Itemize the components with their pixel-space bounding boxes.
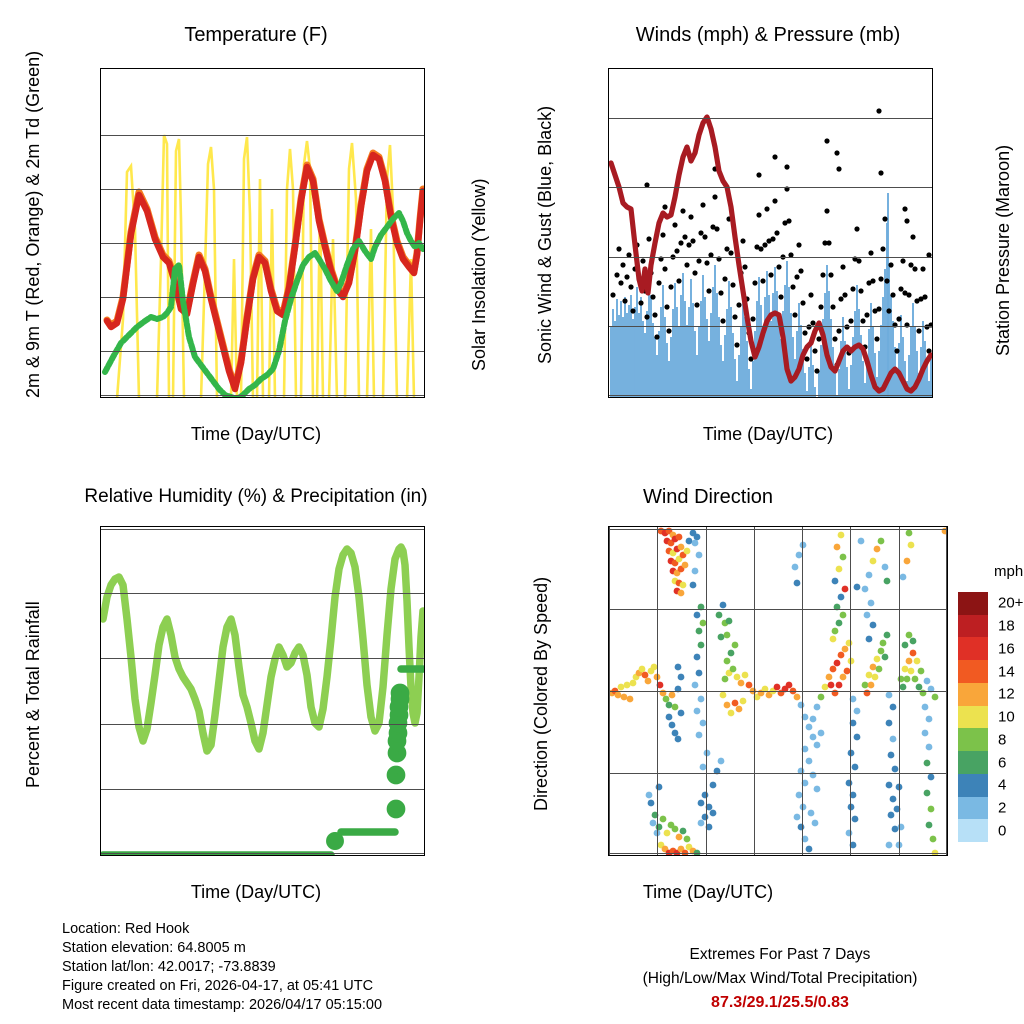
temperature-ylabel-left: 2m & 9m T (Red, Orange) & 2m Td (Green) xyxy=(22,68,44,398)
colorbar-label-16: 16 xyxy=(998,640,1015,657)
vline-1605 xyxy=(899,527,900,855)
gridline-10 xyxy=(609,326,932,327)
relative-humidity-trace xyxy=(103,547,423,751)
colorbar-band-14 xyxy=(958,660,988,683)
ytick-minor xyxy=(608,292,609,293)
ytick-minor xyxy=(100,162,101,163)
ytick-minor xyxy=(608,222,609,223)
ytick-minor xyxy=(100,691,101,692)
ytick-north-top xyxy=(608,529,609,530)
ytick-minor xyxy=(608,83,609,84)
winddir-xlabel: Time (Day/UTC) xyxy=(452,882,964,903)
extremes-subtitle: (High/Low/Max Wind/Total Precipitation) xyxy=(560,967,1000,991)
ytick-40 xyxy=(608,118,609,119)
gridline-north-bottom xyxy=(609,853,947,854)
colorbar-label-8: 8 xyxy=(998,731,1006,748)
ytick-50 xyxy=(100,297,101,298)
colorbar-band-12 xyxy=(958,683,988,706)
ytick-40 xyxy=(100,724,101,725)
extremes-values: 87.3/29.1/25.5/0.83 xyxy=(560,991,1000,1015)
ytick-minor xyxy=(608,152,609,153)
winds-xlabel: Time (Day/UTC) xyxy=(512,424,1024,445)
gridline-30 xyxy=(609,187,932,188)
dashboard-figure: Temperature (F) 2m & 9m T (Red, Orange) … xyxy=(0,0,1024,1024)
ytick-minor xyxy=(100,270,101,271)
metadata-location: Location: Red Hook xyxy=(62,920,382,939)
gridline-40 xyxy=(101,724,424,725)
winds-panel-title: Winds (mph) & Pressure (mb) xyxy=(512,24,1024,47)
humidity-series-svg xyxy=(101,527,425,856)
temperature-plot-area: 80 70 60 50 40 30 800 600 400 200 0 xyxy=(100,68,425,398)
station-metadata: Location: Red Hook Station elevation: 64… xyxy=(62,920,382,1015)
ytick-south xyxy=(608,691,609,692)
temperature-ylabel-right: Solar Insolation (Yellow) xyxy=(468,150,490,400)
winddir-ylabel-left: Direction (Colored By Speed) xyxy=(530,556,552,832)
gridline-60 xyxy=(101,243,424,244)
colorbar-band-16 xyxy=(958,637,988,660)
ytick-minor xyxy=(608,361,609,362)
temperature-xlabel: Time (Day/UTC) xyxy=(0,424,512,445)
vline-1105 xyxy=(657,527,658,855)
temperature-panel-title: Temperature (F) xyxy=(0,24,512,47)
winds-ylabel-right: Station Pressure (Maroon) xyxy=(992,110,1014,390)
ytick-minor xyxy=(100,216,101,217)
vline-1705 xyxy=(946,527,947,855)
humidity-ylabel-left: Percent & Total Rainfall xyxy=(22,570,44,820)
colorbar-band-18 xyxy=(958,615,988,638)
gridline-40 xyxy=(609,118,932,119)
vline-1505 xyxy=(850,527,851,855)
colorbar-band-8 xyxy=(958,728,988,751)
colorbar-label-0: 0 xyxy=(998,822,1006,839)
ytick-40 xyxy=(100,351,101,352)
ytick-30 xyxy=(608,187,609,188)
colorbar-label-10: 10 xyxy=(998,709,1015,726)
ytick-20 xyxy=(100,789,101,790)
colorbar-label-2: 2 xyxy=(998,800,1006,817)
extremes-title: Extremes For Past 7 Days xyxy=(560,943,1000,967)
ytick-minor xyxy=(100,560,101,561)
ytick-minor xyxy=(100,108,101,109)
vline-1005 xyxy=(609,527,610,855)
gridline-30 xyxy=(101,395,424,396)
winddir-plot-area: North West South East North 10/05 11/05 … xyxy=(608,526,948,856)
colorbar-band-6 xyxy=(958,751,988,774)
gridline-100 xyxy=(101,529,424,530)
ytick-60 xyxy=(100,658,101,659)
colorbar-label-18: 18 xyxy=(998,618,1015,635)
winddir-panel-title: Wind Direction xyxy=(452,486,964,509)
extremes-summary: Extremes For Past 7 Days (High/Low/Max W… xyxy=(560,943,1000,1015)
metadata-figure-created: Figure created on Fri, 2026-04-17, at 05… xyxy=(62,977,382,996)
ytick-80 xyxy=(100,593,101,594)
gridline-50 xyxy=(101,297,424,298)
gridline-80 xyxy=(101,593,424,594)
ytick-20 xyxy=(608,257,609,258)
vline-1405 xyxy=(802,527,803,855)
humidity-plot-area: 100 80 60 40 20 0 1.2 1.0 0.8 0.6 0.4 xyxy=(100,526,425,856)
colorbar-band-4 xyxy=(958,774,988,797)
ytick-minor xyxy=(100,374,101,375)
colorbar-band-0 xyxy=(958,819,988,842)
metadata-elevation: Station elevation: 64.8005 m xyxy=(62,939,382,958)
gridline-west xyxy=(609,609,947,610)
colorbar-label-4: 4 xyxy=(998,777,1006,794)
gridline-70 xyxy=(101,189,424,190)
humidity-panel-title: Relative Humidity (%) & Precipitation (i… xyxy=(0,486,512,508)
colorbar-band-20plus xyxy=(958,592,988,615)
ytick-minor xyxy=(100,324,101,325)
colorbar-label-20plus: 20+ xyxy=(998,595,1023,612)
gridline-0 xyxy=(101,853,424,854)
gridline-south xyxy=(609,691,947,692)
ytick-minor xyxy=(100,822,101,823)
ytick-10 xyxy=(608,326,609,327)
ytick-east xyxy=(608,773,609,774)
ytick-70 xyxy=(100,189,101,190)
gridline-20 xyxy=(609,257,932,258)
colorbar-label-12: 12 xyxy=(998,686,1015,703)
metadata-recent-timestamp: Most recent data timestamp: 2026/04/17 0… xyxy=(62,996,382,1015)
ytick-west xyxy=(608,609,609,610)
panel-winds-pressure: Winds (mph) & Pressure (mb) Sonic Wind &… xyxy=(512,0,1024,455)
winds-plot-area: 40 30 20 10 0 1025 1020 1015 1010 1005 1… xyxy=(608,68,933,398)
humidity-xlabel: Time (Day/UTC) xyxy=(0,882,512,903)
wind-speed-colorbar: mph 20+ 18 16 14 12 10 8 6 4 2 0 xyxy=(958,592,988,842)
vline-1205 xyxy=(706,527,707,855)
ytick-100 xyxy=(100,529,101,530)
panel-temperature: Temperature (F) 2m & 9m T (Red, Orange) … xyxy=(0,0,512,455)
gridline-60 xyxy=(101,658,424,659)
ytick-minor xyxy=(100,625,101,626)
winds-ylabel-left: Sonic Wind & Gust (Blue, Black) xyxy=(534,80,556,390)
colorbar-band-2 xyxy=(958,797,988,820)
vline-1305 xyxy=(754,527,755,855)
panel-wind-direction: Wind Direction Direction (Colored By Spe… xyxy=(512,460,1024,920)
ytick-minor xyxy=(100,757,101,758)
colorbar-unit-label: mph xyxy=(994,563,1023,580)
colorbar-label-6: 6 xyxy=(998,754,1006,771)
gridline-80 xyxy=(101,135,424,136)
ytick-60 xyxy=(100,243,101,244)
metadata-latlon: Station lat/lon: 42.0017; -73.8839 xyxy=(62,958,382,977)
gridline-20 xyxy=(101,789,424,790)
gridline-40 xyxy=(101,351,424,352)
temperature-series-svg xyxy=(101,69,425,398)
gridline-east xyxy=(609,773,947,774)
gridline-0 xyxy=(609,395,932,396)
colorbar-band-10 xyxy=(958,706,988,729)
panel-humidity-precip: Relative Humidity (%) & Precipitation (i… xyxy=(0,460,512,920)
colorbar-label-14: 14 xyxy=(998,663,1015,680)
ytick-80 xyxy=(100,135,101,136)
gridline-north-top xyxy=(609,529,947,530)
